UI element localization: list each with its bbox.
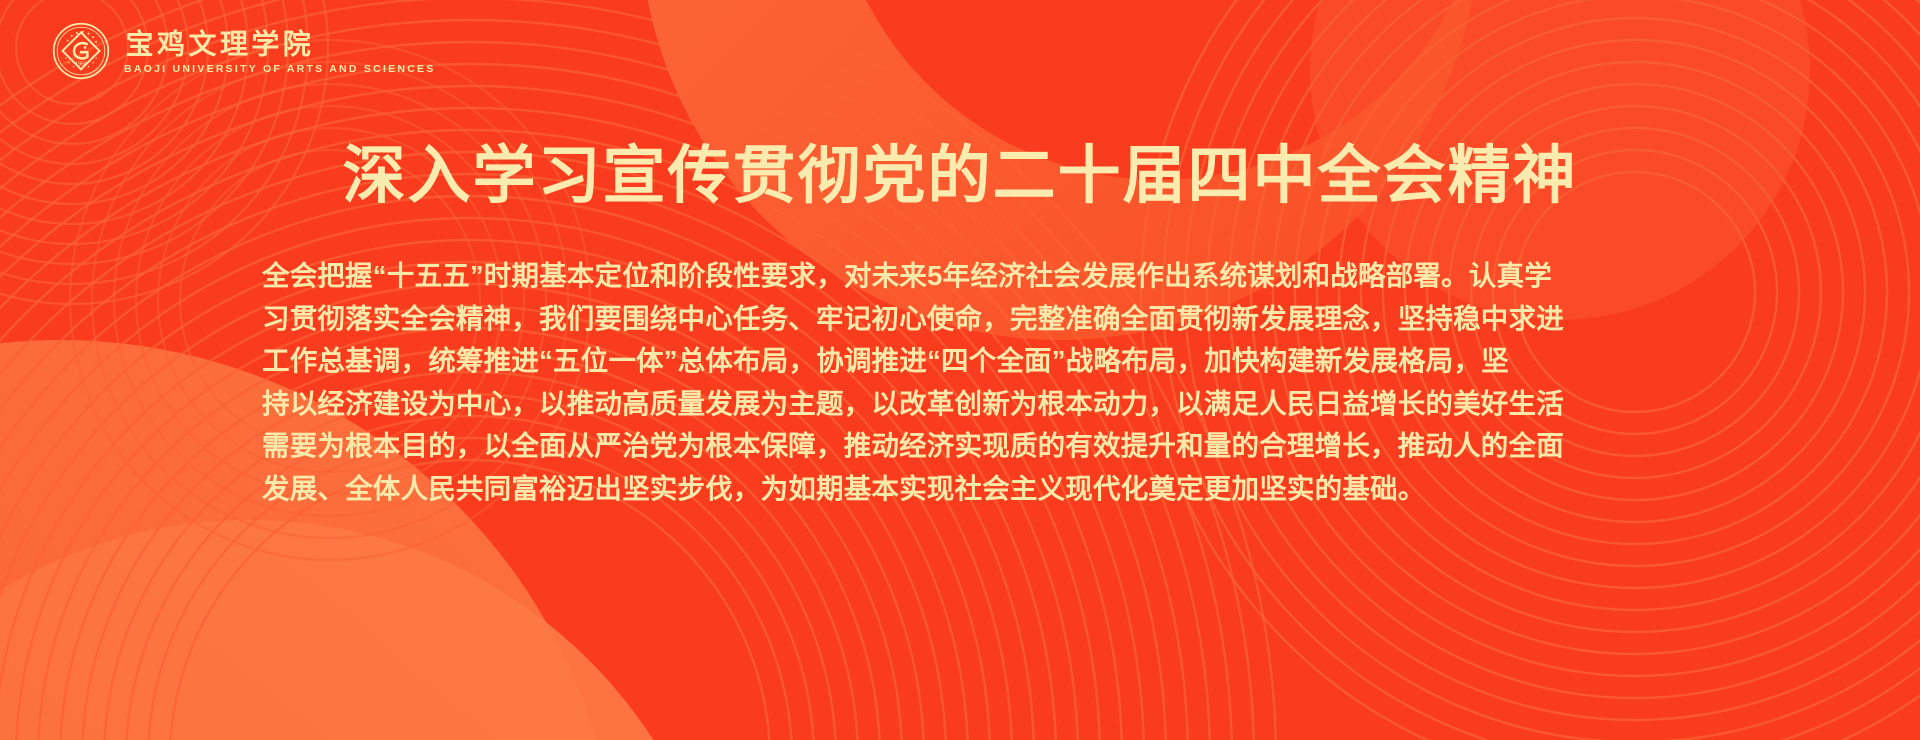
logo-chinese-name-text: 宝鸡文理学院: [126, 28, 315, 61]
body-line: 习贯彻落实全会精神，我们要围绕中心任务、牢记初心使命，完整准确全面贯彻新发展理念…: [262, 298, 1662, 341]
university-logo: 1958 宝鸡文理学院 BAOJI UNIVERSITY OF ARTS AND…: [52, 22, 436, 80]
body-line: 工作总基调，统筹推进“五位一体”总体布局，协调推进“四个全面”战略布局，加快构建…: [262, 340, 1662, 383]
body-line: 持以经济建设为中心，以推动高质量发展为主题，以改革创新为根本动力，以满足人民日益…: [262, 383, 1662, 426]
logo-wordmark: 宝鸡文理学院 BAOJI UNIVERSITY OF ARTS AND SCIE…: [124, 27, 436, 75]
body-paragraph: 全会把握“十五五”时期基本定位和阶段性要求，对未来5年经济社会发展作出系统谋划和…: [262, 255, 1662, 510]
logo-chinese-name: 宝鸡文理学院: [124, 27, 382, 61]
body-line: 发展、全体人民共同富裕迈出坚实步伐，为如期基本实现社会主义现代化奠定更加坚实的基…: [262, 468, 1662, 511]
page-title: 深入学习宣传贯彻党的二十届四中全会精神: [0, 140, 1920, 212]
banner-root: 1958 宝鸡文理学院 BAOJI UNIVERSITY OF ARTS AND…: [0, 0, 1920, 740]
logo-english-name: BAOJI UNIVERSITY OF ARTS AND SCIENCES: [124, 64, 436, 75]
emblem-year: 1958: [75, 62, 87, 68]
body-line: 需要为根本目的，以全面从严治党为根本保障，推动经济实现质的有效提升和量的合理增长…: [262, 425, 1662, 468]
body-line: 全会把握“十五五”时期基本定位和阶段性要求，对未来5年经济社会发展作出系统谋划和…: [262, 255, 1662, 298]
university-emblem-icon: 1958: [52, 22, 110, 80]
